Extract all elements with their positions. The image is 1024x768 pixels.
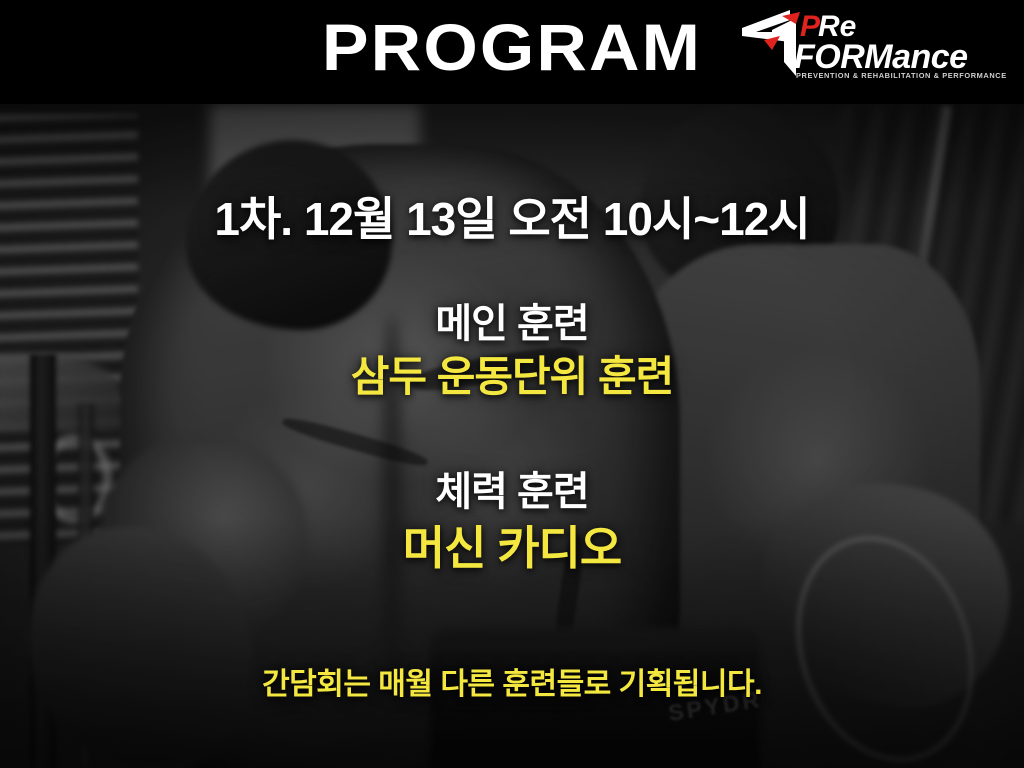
- main-training-value: 삼두 운동단위 훈련: [0, 352, 1024, 402]
- presentation-slide: SPYDR PROGRAM P Re FORMance PREV: [0, 0, 1024, 768]
- conditioning-training-value: 머신 카디오: [0, 520, 1024, 576]
- logo-tagline: PREVENTION & REHABILITATION & PERFORMANC…: [796, 71, 1007, 80]
- slide-header-bar: PROGRAM P Re FORMance PREVENTION & REHAB…: [0, 0, 1024, 104]
- conditioning-training-label: 체력 훈련: [0, 468, 1024, 516]
- chevron-arrow-mark: [742, 10, 800, 76]
- footnote: 간담회는 매월 다른 훈련들로 기획됩니다.: [0, 666, 1024, 704]
- preformance-logo: P Re FORMance PREVENTION & REHABILITATIO…: [738, 6, 1010, 82]
- session-datetime: 1차. 12월 13일 오전 10시~12시: [0, 192, 1024, 246]
- slide-content: 1차. 12월 13일 오전 10시~12시 메인 훈련 삼두 운동단위 훈련 …: [0, 104, 1024, 768]
- preformance-logo-svg: P Re FORMance PREVENTION & REHABILITATIO…: [738, 6, 1010, 82]
- main-training-label: 메인 훈련: [0, 300, 1024, 348]
